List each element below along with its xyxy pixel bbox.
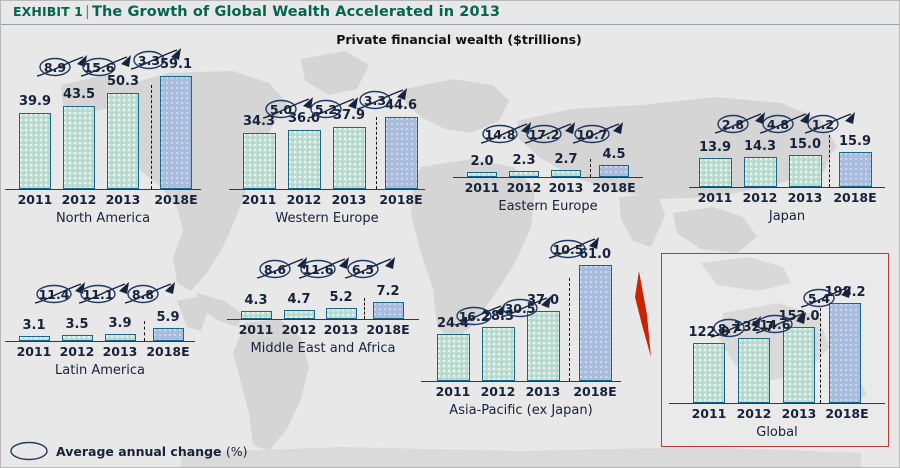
bar-2011[interactable] <box>437 334 470 381</box>
bar-value-2012: 43.5 <box>51 87 107 102</box>
callout-value: 3.3 <box>355 93 395 108</box>
callout-value: 2.8 <box>713 117 753 132</box>
panel-title: North America <box>5 211 201 226</box>
bar-2013[interactable] <box>527 311 560 381</box>
bar-2011[interactable] <box>241 311 272 319</box>
callout-value: 17.2 <box>524 127 564 142</box>
callout-value: 8.9 <box>35 60 75 75</box>
bar-2011[interactable] <box>693 343 725 403</box>
bar-value-2013: 2.7 <box>539 152 593 167</box>
tick-2013: 2013 <box>515 384 571 399</box>
callout-change-2013-2018e: 5.4 <box>799 285 857 311</box>
bar-2018e[interactable] <box>579 265 612 381</box>
panel-asia-pacific: 24.4 28.3 37.0 61.0 16.2 30.5 10.5 2011 … <box>421 241 621 421</box>
bar-2018e[interactable] <box>599 165 629 177</box>
panel-middle-east-and-africa: 4.3 4.7 5.2 7.2 8.6 11.6 6.5 2011 2012 2… <box>227 266 419 361</box>
tick-2018e: 2018E <box>359 322 417 337</box>
callout-change-2012-2013: 14.6 <box>754 311 812 337</box>
bar-value-2018e: 5.9 <box>141 310 195 325</box>
tick-2018e: 2018E <box>825 190 885 205</box>
callout-value: 11.4 <box>34 287 74 302</box>
callout-value: 14.8 <box>480 127 520 142</box>
ellipse-callout-icon <box>9 441 49 461</box>
tick-2018e: 2018E <box>146 192 206 207</box>
callout-value: 14.6 <box>755 317 795 332</box>
emphasis-arrow-icon <box>621 263 661 363</box>
callout-value: 6.5 <box>343 262 383 277</box>
bar-value-2013: 5.2 <box>314 290 368 305</box>
panel-title: Asia-Pacific (ex Japan) <box>421 403 621 418</box>
bar-2018e[interactable] <box>385 117 418 189</box>
bar-2018e[interactable] <box>160 76 192 189</box>
bar-2013[interactable] <box>783 327 815 403</box>
legend-label: Average annual change (%) <box>56 444 248 459</box>
callout-value: 10.7 <box>572 127 612 142</box>
page-title: EXHIBIT 1|The Growth of Global Wealth Ac… <box>13 4 500 20</box>
chart-subtitle: Private financial wealth ($trillions) <box>1 32 900 47</box>
tick-2018e: 2018E <box>585 180 643 195</box>
bar-2012[interactable] <box>738 338 770 403</box>
callout-value: 30.5 <box>500 301 540 316</box>
forecast-divider <box>376 117 377 189</box>
callout-value: 5.2 <box>306 102 346 117</box>
legend-unit: (%) <box>226 444 248 459</box>
callout-change-2013-2018e: 10.5 <box>547 236 605 262</box>
exhibit-title-text: The Growth of Global Wealth Accelerated … <box>92 4 500 20</box>
panel-title: Japan <box>689 209 885 224</box>
bar-2018e[interactable] <box>839 152 872 187</box>
panel-title: Global <box>669 425 885 440</box>
bar-2018e[interactable] <box>829 303 861 403</box>
callout-value: 11.6 <box>298 262 338 277</box>
panel-global: 122.0 132.7 152.0 198.2 8.7 14.6 5.4 201… <box>669 263 885 443</box>
bar-2012[interactable] <box>288 130 321 189</box>
bar-2013[interactable] <box>107 93 139 189</box>
bar-2011[interactable] <box>467 172 497 177</box>
callout-change-2013-2018e: 1.2 <box>803 111 861 137</box>
bar-value-2013: 3.9 <box>93 316 147 331</box>
callout-change-2013-2018e: 8.8 <box>123 281 181 307</box>
callout-value: 10.5 <box>548 242 588 257</box>
panel-eastern-europe: 2.0 2.3 2.7 4.5 14.8 17.2 10.7 2011 2012… <box>453 129 643 219</box>
axis-line <box>669 403 885 404</box>
axis-line <box>229 189 425 190</box>
panel-japan: 13.9 14.3 15.0 15.9 2.8 4.8 1.2 2011 201… <box>689 123 885 223</box>
tick-2013: 2013 <box>321 192 377 207</box>
bar-2012[interactable] <box>63 106 95 189</box>
callout-value: 5.0 <box>261 102 301 117</box>
bar-2018e[interactable] <box>153 328 184 341</box>
exhibit-page: EXHIBIT 1|The Growth of Global Wealth Ac… <box>0 0 900 468</box>
callout-value: 1.2 <box>803 117 843 132</box>
callout-change-2012-2013: 30.5 <box>499 295 557 321</box>
bar-value-2013: 15.0 <box>777 137 833 152</box>
legend-label-text: Average annual change <box>56 444 222 459</box>
bar-2011[interactable] <box>699 158 732 187</box>
title-divider: | <box>83 4 92 20</box>
axis-line <box>689 187 885 188</box>
tick-2018e: 2018E <box>371 192 431 207</box>
bar-2013[interactable] <box>551 170 581 177</box>
exhibit-number: EXHIBIT 1 <box>13 4 83 19</box>
exhibit-header-bar: EXHIBIT 1|The Growth of Global Wealth Ac… <box>1 1 900 25</box>
bar-2012[interactable] <box>482 327 515 381</box>
bar-2011[interactable] <box>243 133 276 189</box>
axis-line <box>227 319 419 320</box>
callout-value: 16.2 <box>454 309 494 324</box>
callout-value: 8.8 <box>123 287 163 302</box>
panel-title: Eastern Europe <box>453 199 643 214</box>
bar-2011[interactable] <box>19 113 51 189</box>
bar-2013[interactable] <box>105 334 136 341</box>
tick-2018e: 2018E <box>565 384 625 399</box>
forecast-divider <box>151 85 152 189</box>
axis-line <box>5 189 201 190</box>
axis-line <box>5 341 195 342</box>
panel-latin-america: 3.1 3.5 3.9 5.9 11.4 11.1 8.8 2011 2012 … <box>5 291 195 383</box>
bar-2018e[interactable] <box>373 302 404 319</box>
panel-title: Latin America <box>5 363 195 378</box>
bar-2013[interactable] <box>326 308 357 319</box>
callout-value: 11.1 <box>78 287 118 302</box>
callout-change-2013-2018e: 6.5 <box>343 256 401 282</box>
panel-title: Middle East and Africa <box>227 341 419 356</box>
callout-value: 15.6 <box>79 60 119 75</box>
panel-western-europe: 34.3 36.0 37.9 44.6 5.0 5.2 3.3 2011 201… <box>229 111 425 246</box>
legend: Average annual change (%) <box>9 441 248 461</box>
callout-change-2013-2018e: 10.7 <box>571 121 629 147</box>
panel-title: Western Europe <box>229 211 425 226</box>
bar-2013[interactable] <box>333 127 366 189</box>
callout-change-2013-2018e: 3.3 <box>129 47 187 73</box>
callout-value: 8.6 <box>255 262 295 277</box>
bar-2012[interactable] <box>62 335 93 341</box>
tick-2018e: 2018E <box>815 406 879 421</box>
tick-2013: 2013 <box>95 192 151 207</box>
tick-2018e: 2018E <box>139 344 197 359</box>
callout-value: 5.4 <box>799 291 839 306</box>
panel-north-america: 39.9 43.5 50.3 59.1 8.9 15.6 3.3 2011 20… <box>5 61 201 221</box>
bar-2012[interactable] <box>509 171 539 177</box>
callout-change-2013-2018e: 3.3 <box>355 87 413 113</box>
callout-value: 3.3 <box>129 53 169 68</box>
callout-value: 8.7 <box>709 321 749 336</box>
bar-value-2018e: 4.5 <box>587 147 641 162</box>
bar-2012[interactable] <box>284 310 315 319</box>
axis-line <box>421 381 621 382</box>
axis-line <box>453 177 643 178</box>
bar-2013[interactable] <box>789 155 822 187</box>
bar-value-2018e: 7.2 <box>361 284 415 299</box>
bar-2011[interactable] <box>19 336 50 341</box>
callout-value: 4.8 <box>758 117 798 132</box>
bar-2012[interactable] <box>744 157 777 187</box>
